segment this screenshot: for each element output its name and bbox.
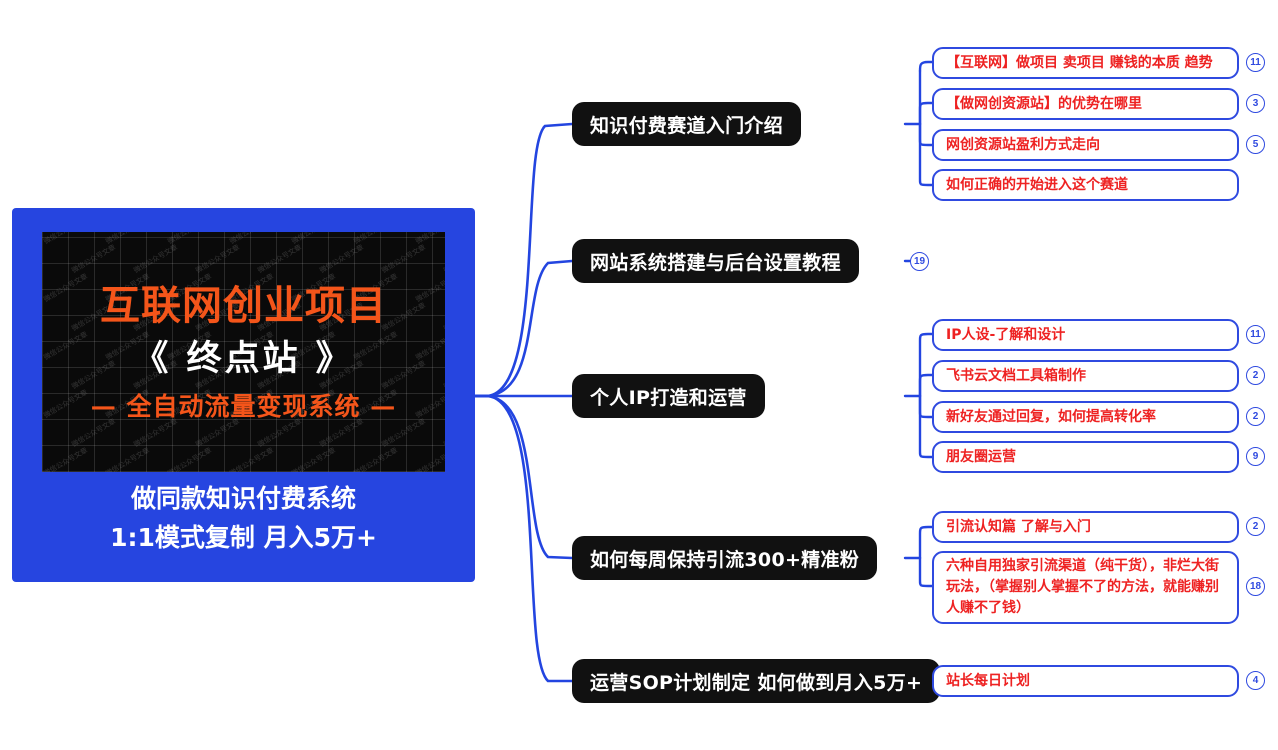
leaf-badge-2-1: 2 xyxy=(1246,366,1265,385)
branch-node-0[interactable]: 知识付费赛道入门介绍 xyxy=(572,102,801,146)
leaf-node-0-3[interactable]: 如何正确的开始进入这个赛道 xyxy=(932,169,1239,201)
leaf-badge-3-1: 18 xyxy=(1246,577,1265,596)
branch-badge-1: 19 xyxy=(910,252,929,271)
root-node[interactable]: 微信公众号文章微信公众号文章微信公众号文章微信公众号文章微信公众号文章微信公众号… xyxy=(12,208,475,582)
leaf-badge-0-1: 3 xyxy=(1246,94,1265,113)
leaf-node-3-0[interactable]: 引流认知篇 了解与入门 xyxy=(932,511,1239,543)
leaf-node-2-0[interactable]: IP人设-了解和设计 xyxy=(932,319,1239,351)
leaf-badge-2-3: 9 xyxy=(1246,447,1265,466)
leaf-node-0-2[interactable]: 网创资源站盈利方式走向 xyxy=(932,129,1239,161)
root-caption-line-2: 1:1模式复制 月入5万+ xyxy=(12,519,475,558)
branch-node-1[interactable]: 网站系统搭建与后台设置教程 xyxy=(572,239,859,283)
leaf-badge-4-0: 4 xyxy=(1246,671,1265,690)
leaf-node-2-3[interactable]: 朋友圈运营 xyxy=(932,441,1239,473)
leaf-node-3-1[interactable]: 六种自用独家引流渠道（纯干货），非烂大街玩法，（掌握别人掌握不了的方法，就能赚别… xyxy=(932,551,1239,624)
leaf-node-2-1[interactable]: 飞书云文档工具箱制作 xyxy=(932,360,1239,392)
branch-node-2[interactable]: 个人IP打造和运营 xyxy=(572,374,765,418)
leaf-badge-0-2: 5 xyxy=(1246,135,1265,154)
mindmap-canvas: 微信公众号文章微信公众号文章微信公众号文章微信公众号文章微信公众号文章微信公众号… xyxy=(0,0,1278,750)
leaf-badge-2-2: 2 xyxy=(1246,407,1265,426)
leaf-node-0-0[interactable]: 【互联网】做项目 卖项目 赚钱的本质 趋势 xyxy=(932,47,1239,79)
poster-tagline: — 全自动流量变现系统 — xyxy=(91,393,396,421)
leaf-badge-3-0: 2 xyxy=(1246,517,1265,536)
leaf-node-0-1[interactable]: 【做网创资源站】的优势在哪里 xyxy=(932,88,1239,120)
root-caption-line-1: 做同款知识付费系统 xyxy=(12,480,475,519)
root-caption: 做同款知识付费系统 1:1模式复制 月入5万+ xyxy=(12,480,475,558)
leaf-node-2-2[interactable]: 新好友通过回复，如何提高转化率 xyxy=(932,401,1239,433)
leaf-node-4-0[interactable]: 站长每日计划 xyxy=(932,665,1239,697)
poster-subtitle: 《 终点站 》 xyxy=(133,340,353,379)
leaf-badge-0-0: 11 xyxy=(1246,53,1265,72)
poster-image: 微信公众号文章微信公众号文章微信公众号文章微信公众号文章微信公众号文章微信公众号… xyxy=(42,232,445,472)
poster-title: 互联网创业项目 xyxy=(100,284,387,328)
leaf-badge-2-0: 11 xyxy=(1246,325,1265,344)
branch-node-4[interactable]: 运营SOP计划制定 如何做到月入5万+ xyxy=(572,659,940,703)
branch-node-3[interactable]: 如何每周保持引流300+精准粉 xyxy=(572,536,877,580)
